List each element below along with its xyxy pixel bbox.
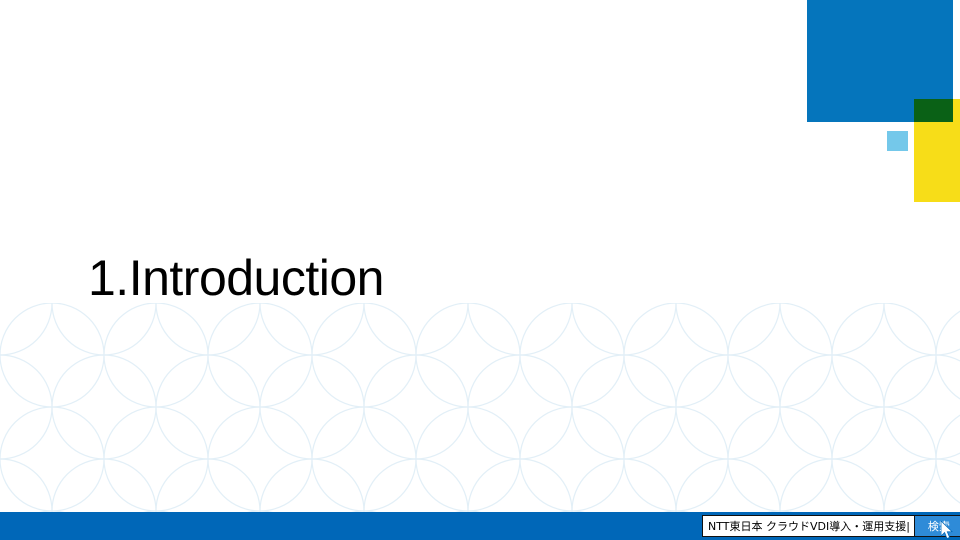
shippou-pattern-band [0,303,960,514]
slide-title: 1.Introduction [88,248,384,308]
search-input[interactable]: NTT東日本 クラウドVDI導入・運用支援| [703,516,914,536]
presentation-slide: 1.Introduction [0,0,960,540]
decor-light-blue-square [887,131,908,151]
decor-green-overlap-square [914,99,953,122]
search-widget[interactable]: NTT東日本 クラウドVDI導入・運用支援| 検索 [702,515,960,537]
search-button[interactable]: 検索 [914,516,960,536]
